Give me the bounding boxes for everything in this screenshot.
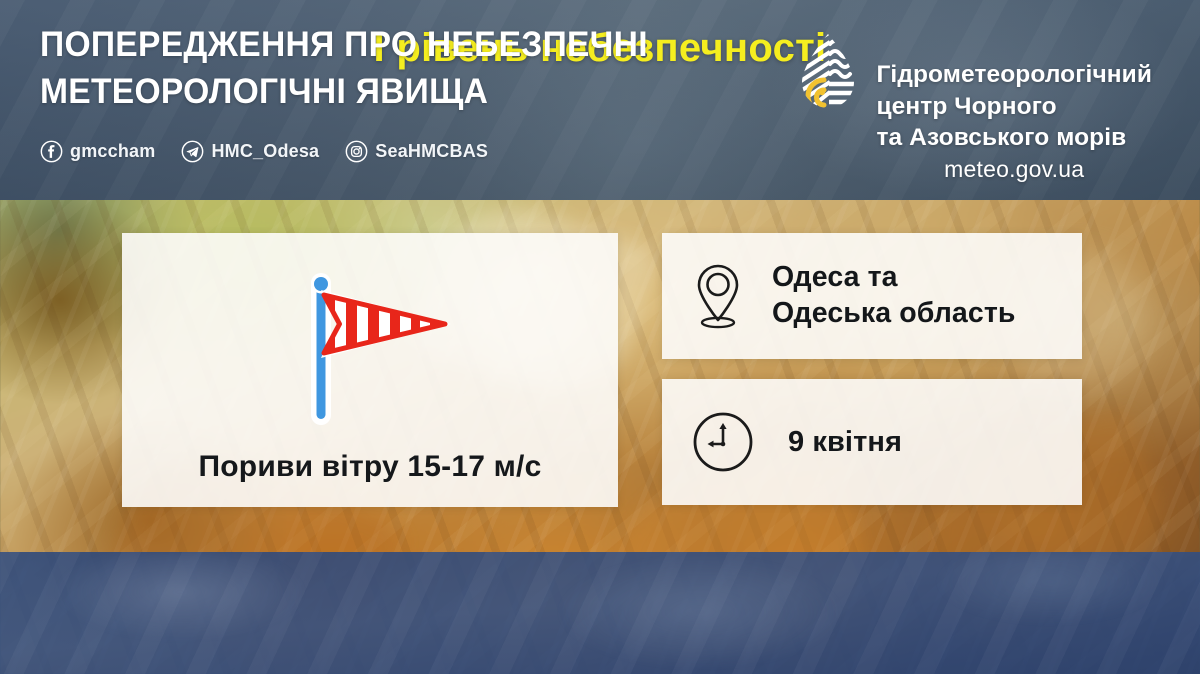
- social-handle: SeaHMCBAS: [375, 141, 488, 162]
- organization-name: Гідрометеорологічний центр Чорного та Аз…: [876, 61, 1152, 151]
- social-handle: gmccham: [70, 141, 155, 162]
- region-card: Одеса та Одеська область: [662, 233, 1082, 359]
- location-pin-icon: [692, 263, 744, 329]
- wind-warning-card: Пориви вітру 15-17 м/с: [122, 233, 618, 507]
- page-title: ПОПЕРЕДЖЕННЯ ПРО НЕБЕЗПЕЧНІ МЕТЕОРОЛОГІЧ…: [40, 22, 731, 115]
- social-link-instagram[interactable]: SeaHMCBAS: [345, 140, 488, 163]
- region-text: Одеса та Одеська область: [772, 260, 1016, 332]
- wind-icon-wrapper: [122, 257, 618, 437]
- footer-band: [0, 552, 1200, 674]
- date-row: 9 квітня: [662, 379, 1082, 505]
- region-row: Одеса та Одеська область: [662, 233, 1082, 359]
- wind-pennant-icon: [275, 257, 465, 437]
- instagram-icon: [345, 140, 368, 163]
- organization-url: meteo.gov.ua: [876, 155, 1152, 184]
- organization-name-block: Гідрометеорологічний центр Чорного та Аз…: [876, 28, 1152, 216]
- social-links: gmccham HMC_Odesa SeaHMCBAS: [40, 140, 488, 163]
- clock-icon: [692, 411, 754, 473]
- water-drop-logo-icon: [796, 32, 860, 114]
- wind-warning-label: Пориви вітру 15-17 м/с: [122, 450, 618, 484]
- social-link-facebook[interactable]: gmccham: [40, 140, 155, 163]
- telegram-icon: [181, 140, 204, 163]
- facebook-icon: [40, 140, 63, 163]
- date-text: 9 квітня: [788, 424, 902, 461]
- warning-infographic: ПОПЕРЕДЖЕННЯ ПРО НЕБЕЗПЕЧНІ МЕТЕОРОЛОГІЧ…: [0, 0, 1200, 674]
- organization-logo: Гідрометеорологічний центр Чорного та Аз…: [796, 28, 1152, 216]
- date-card: 9 квітня: [662, 379, 1082, 505]
- social-link-telegram[interactable]: HMC_Odesa: [181, 140, 319, 163]
- social-handle: HMC_Odesa: [211, 141, 319, 162]
